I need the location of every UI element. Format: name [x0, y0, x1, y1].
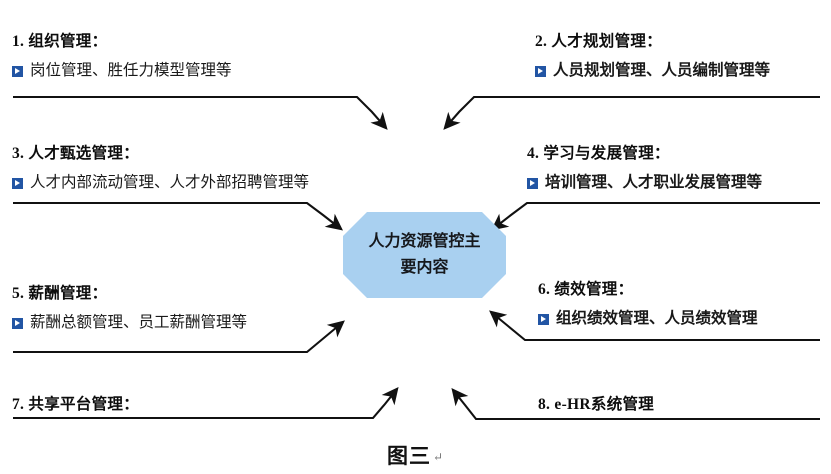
paragraph-mark-icon: ↵ — [433, 450, 444, 464]
blue-arrow-bullet-icon — [538, 314, 549, 325]
item-5-desc: 薪酬总额管理、员工薪酬管理等 — [30, 314, 247, 332]
blue-arrow-bullet-icon — [12, 178, 23, 189]
diagram-canvas: 1. 组织管理： 岗位管理、胜任力模型管理等 2. 人才规划管理： 人员规划管理… — [0, 0, 831, 474]
item-6-bullet-row: 组织绩效管理、人员绩效管理 — [538, 310, 758, 328]
arrow-item-4 — [493, 203, 820, 229]
item-6: 6. 绩效管理： 组织绩效管理、人员绩效管理 — [538, 281, 758, 328]
item-2-title: 2. 人才规划管理： — [535, 33, 770, 51]
blue-arrow-bullet-icon — [12, 318, 23, 329]
item-3-bullet-row: 人才内部流动管理、人才外部招聘管理等 — [12, 174, 309, 192]
item-4-title: 4. 学习与发展管理： — [527, 145, 762, 163]
arrow-item-2 — [445, 97, 820, 128]
item-7-title: 7. 共享平台管理： — [12, 396, 139, 414]
arrow-item-3 — [13, 203, 341, 229]
item-3-desc: 人才内部流动管理、人才外部招聘管理等 — [30, 174, 309, 192]
item-1-title: 1. 组织管理： — [12, 33, 232, 51]
center-node-line-1: 人力资源管控主 — [368, 229, 480, 255]
item-2-desc: 人员规划管理、人员编制管理等 — [553, 62, 770, 80]
blue-arrow-bullet-icon — [12, 66, 23, 77]
center-node-line-2: 要内容 — [400, 255, 448, 281]
item-4: 4. 学习与发展管理： 培训管理、人才职业发展管理等 — [527, 145, 762, 192]
item-4-bullet-row: 培训管理、人才职业发展管理等 — [527, 174, 762, 192]
item-8: 8. e-HR系统管理 — [538, 396, 654, 414]
center-octagon-node: 人力资源管控主 要内容 — [343, 212, 506, 298]
item-5-bullet-row: 薪酬总额管理、员工薪酬管理等 — [12, 314, 247, 332]
blue-arrow-bullet-icon — [535, 66, 546, 77]
item-2-bullet-row: 人员规划管理、人员编制管理等 — [535, 62, 770, 80]
item-4-desc: 培训管理、人才职业发展管理等 — [545, 174, 762, 192]
blue-arrow-bullet-icon — [527, 178, 538, 189]
figure-caption-text: 图三 — [387, 444, 431, 468]
item-6-title: 6. 绩效管理： — [538, 281, 758, 299]
item-1-bullet-row: 岗位管理、胜任力模型管理等 — [12, 62, 232, 80]
item-3: 3. 人才甄选管理： 人才内部流动管理、人才外部招聘管理等 — [12, 145, 309, 192]
item-8-title: 8. e-HR系统管理 — [538, 396, 654, 414]
item-6-desc: 组织绩效管理、人员绩效管理 — [556, 310, 758, 328]
item-5: 5. 薪酬管理： 薪酬总额管理、员工薪酬管理等 — [12, 285, 247, 332]
item-7: 7. 共享平台管理： — [12, 396, 139, 414]
figure-caption: 图三↵ — [0, 440, 831, 470]
item-3-title: 3. 人才甄选管理： — [12, 145, 309, 163]
item-5-title: 5. 薪酬管理： — [12, 285, 247, 303]
arrow-item-1 — [13, 97, 386, 128]
item-1: 1. 组织管理： 岗位管理、胜任力模型管理等 — [12, 33, 232, 80]
item-1-desc: 岗位管理、胜任力模型管理等 — [30, 62, 232, 80]
item-2: 2. 人才规划管理： 人员规划管理、人员编制管理等 — [535, 33, 770, 80]
